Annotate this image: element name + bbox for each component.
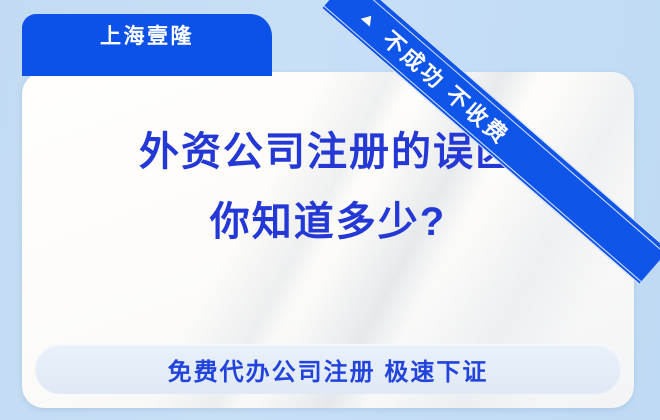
headline-line-1: 外资公司注册的误区 xyxy=(22,132,634,172)
headline-line-2: 你知道多少? xyxy=(22,202,634,242)
cta-button[interactable]: 免费代办公司注册 极速下证 xyxy=(35,344,621,394)
promo-banner: 上海壹隆 外资公司注册的误区 你知道多少? 免费代办公司注册 极速下证 不成功 … xyxy=(0,0,660,420)
content-card: 外资公司注册的误区 你知道多少? 免费代办公司注册 极速下证 xyxy=(22,72,634,408)
triangle-up-icon xyxy=(361,12,376,27)
brand-tab: 上海壹隆 xyxy=(22,14,272,76)
brand-tab-label: 上海壹隆 xyxy=(22,14,272,60)
headline: 外资公司注册的误区 你知道多少? xyxy=(22,132,634,242)
cta-label: 免费代办公司注册 极速下证 xyxy=(168,352,489,387)
